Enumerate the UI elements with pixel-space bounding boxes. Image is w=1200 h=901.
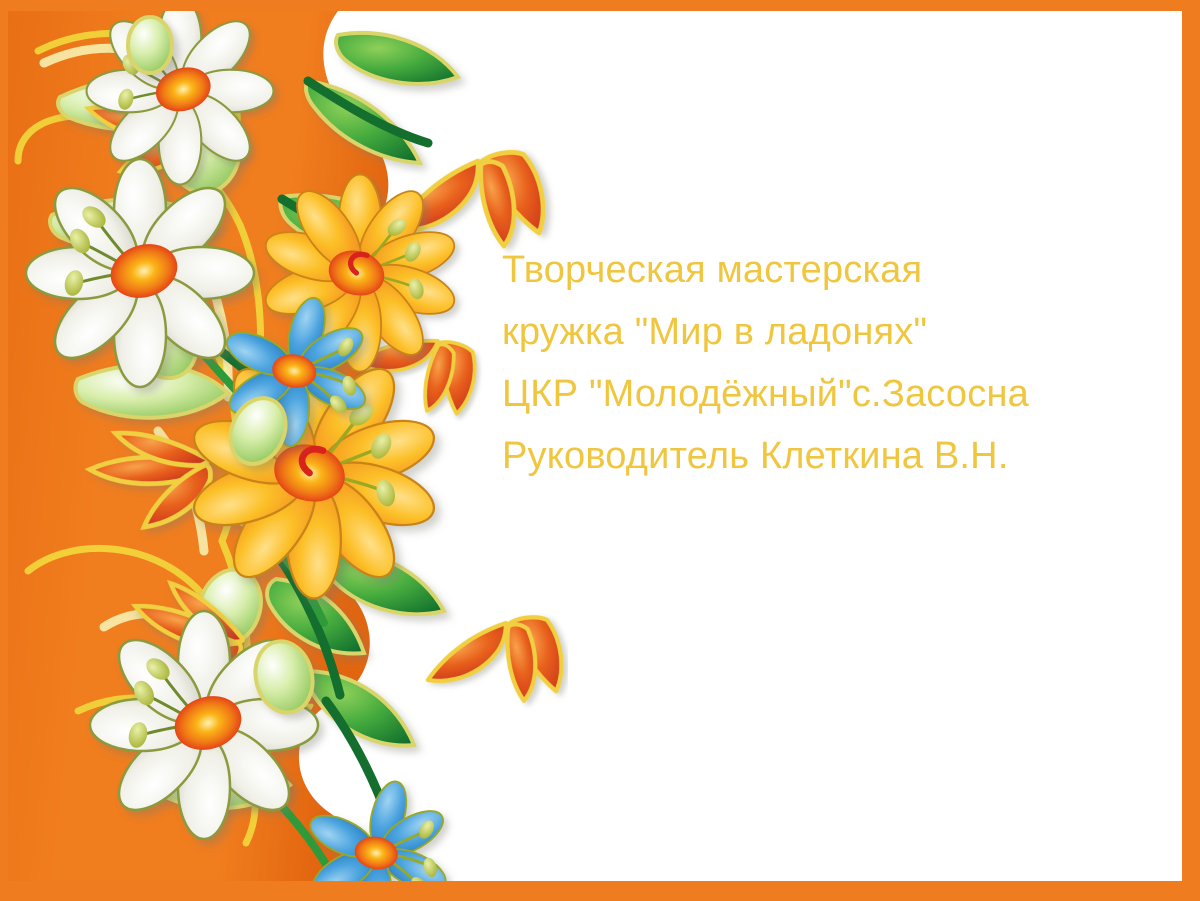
frame-left-border — [0, 0, 8, 901]
title-line-1: Творческая мастерская — [502, 239, 1162, 301]
frame-top-border — [0, 0, 1200, 11]
frame-bottom-border — [0, 881, 1200, 901]
frame-right-border — [1182, 0, 1200, 901]
title-line-4: Руководитель Клеткина В.Н. — [502, 425, 1162, 487]
title-line-2: кружка "Мир в ладонях" — [502, 301, 1162, 363]
title-line-3: ЦКР "Молодёжный"с.Засосна — [502, 363, 1162, 425]
white-daisy-flower — [87, 11, 274, 184]
presentation-slide: Творческая мастерская кружка "Мир в ладо… — [0, 0, 1200, 901]
floral-ornament-icon — [8, 11, 568, 881]
slide-canvas: Творческая мастерская кружка "Мир в ладо… — [8, 11, 1182, 881]
white-daisy-flower — [26, 159, 254, 387]
slide-title-block: Творческая мастерская кружка "Мир в ладо… — [502, 239, 1162, 487]
tulip-flower — [419, 611, 568, 722]
leaf — [336, 33, 458, 84]
